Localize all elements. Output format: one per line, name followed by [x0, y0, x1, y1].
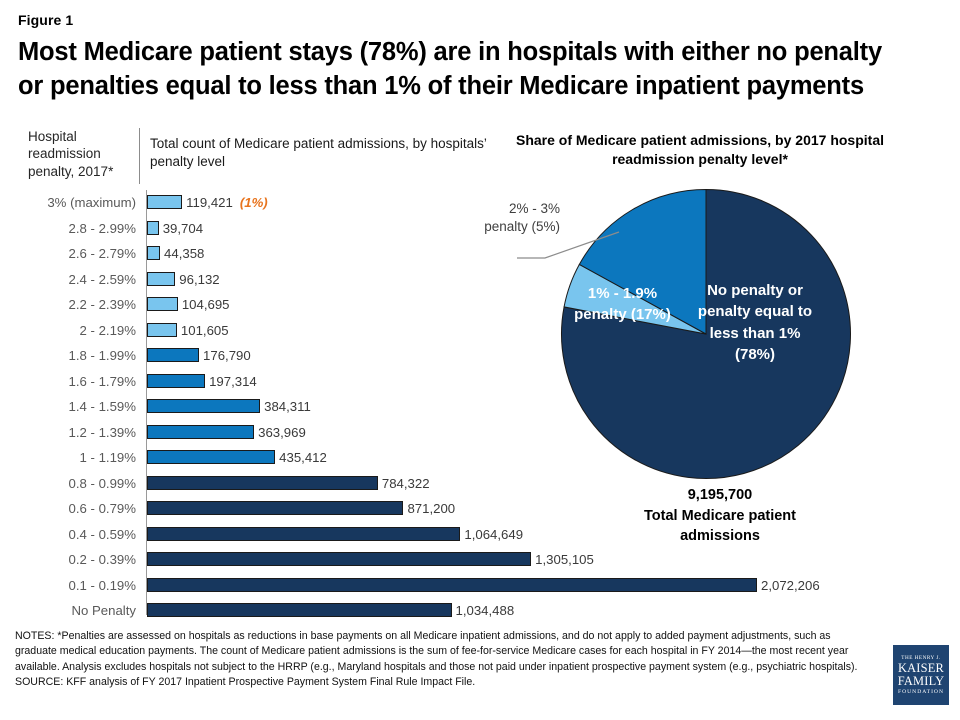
bar-category-label: 0.1 - 0.19% [0, 573, 136, 599]
bar-value-label: 363,969 [258, 420, 306, 446]
bar-value-label: 784,322 [382, 471, 430, 497]
bar-category-label: 1.4 - 1.59% [0, 394, 136, 420]
logo-line-3: FAMILY [898, 675, 945, 688]
bar [147, 221, 159, 235]
source-text: SOURCE: KFF analysis of FY 2017 Inpatien… [15, 675, 870, 690]
notes-block: NOTES: *Penalties are assessed on hospit… [15, 629, 870, 690]
bar [147, 501, 403, 515]
logo-line-2: KAISER [898, 662, 944, 675]
bar-category-label: 2.6 - 2.79% [0, 241, 136, 267]
kff-logo: THE HENRY J. KAISER FAMILY FOUNDATION [893, 645, 949, 705]
figure-page: Figure 1 Most Medicare patient stays (78… [0, 0, 960, 720]
pie-total-caption-2: admissions [605, 526, 835, 547]
headline-line-1: Most Medicare patient stays (78%) are in… [18, 36, 943, 70]
bar-chart-header: Total count of Medicare patient admissio… [150, 135, 490, 171]
left-column-header: Hospital readmission penalty, 2017* [28, 128, 138, 180]
bar-value-label: 197,314 [209, 369, 257, 395]
notes-text: NOTES: *Penalties are assessed on hospit… [15, 629, 870, 675]
bar [147, 323, 177, 337]
bar [147, 425, 254, 439]
bar [147, 552, 531, 566]
bar-value-label: 119,421(1%) [186, 190, 268, 216]
bar-value-label: 435,412 [279, 445, 327, 471]
bar-value-label: 1,064,649 [464, 522, 523, 548]
pie-chart-header: Share of Medicare patient admissions, by… [505, 131, 895, 169]
pie-total-caption-1: Total Medicare patient [605, 506, 835, 527]
bar-category-label: 2 - 2.19% [0, 318, 136, 344]
bar-value-label: 871,200 [407, 496, 455, 522]
bar-category-label: 2.4 - 2.59% [0, 267, 136, 293]
logo-line-1: THE HENRY J. [901, 655, 940, 661]
bar-category-label: 1.8 - 1.99% [0, 343, 136, 369]
bar [147, 578, 757, 592]
bar-category-label: 0.2 - 0.39% [0, 547, 136, 573]
bar-category-label: 1.2 - 1.39% [0, 420, 136, 446]
bar-category-label: 0.8 - 0.99% [0, 471, 136, 497]
bar-row: 0.1 - 0.19%2,072,206 [0, 573, 820, 599]
bar-value-label: 104,695 [182, 292, 230, 318]
bar-category-label: 0.4 - 0.59% [0, 522, 136, 548]
bar-category-label: 1 - 1.19% [0, 445, 136, 471]
bar-category-label: 1.6 - 1.79% [0, 369, 136, 395]
bar-row: 0.2 - 0.39%1,305,105 [0, 547, 820, 573]
bar-value-label: 2,072,206 [761, 573, 820, 599]
pie-total-block: 9,195,700 Total Medicare patient admissi… [605, 485, 835, 547]
bar [147, 374, 205, 388]
bar [147, 603, 452, 617]
page-title: Most Medicare patient stays (78%) are in… [18, 36, 943, 103]
bar-category-label: 3% (maximum) [0, 190, 136, 216]
bar [147, 527, 460, 541]
bar [147, 195, 182, 209]
bar-share-annotation: (1%) [240, 195, 268, 210]
bar-value-label: 176,790 [203, 343, 251, 369]
pie-total-number: 9,195,700 [605, 485, 835, 506]
bar [147, 476, 378, 490]
bar-category-label: No Penalty [0, 598, 136, 624]
bar [147, 399, 260, 413]
bar-value-label: 39,704 [163, 216, 203, 242]
callout-line-1: 2% - 3% [430, 200, 560, 218]
bar-value-label: 1,305,105 [535, 547, 594, 573]
bar-category-label: 2.2 - 2.39% [0, 292, 136, 318]
headline-line-2: or penalties equal to less than 1% of th… [18, 70, 943, 104]
bar-value-label: 101,605 [181, 318, 229, 344]
callout-leader-line [515, 225, 625, 265]
bar-value-label: 1,034,488 [456, 598, 515, 624]
bar [147, 246, 160, 260]
logo-line-4: FOUNDATION [898, 689, 944, 695]
bar [147, 348, 199, 362]
bar-value-label: 96,132 [179, 267, 219, 293]
figure-label: Figure 1 [18, 12, 73, 28]
header-divider [139, 128, 140, 184]
bar-row: No Penalty1,034,488 [0, 598, 820, 624]
bar [147, 297, 178, 311]
bar-value-label: 44,358 [164, 241, 204, 267]
bar [147, 450, 275, 464]
bar-category-label: 2.8 - 2.99% [0, 216, 136, 242]
bar-category-label: 0.6 - 0.79% [0, 496, 136, 522]
bar [147, 272, 175, 286]
bar-value-label: 384,311 [264, 394, 311, 420]
